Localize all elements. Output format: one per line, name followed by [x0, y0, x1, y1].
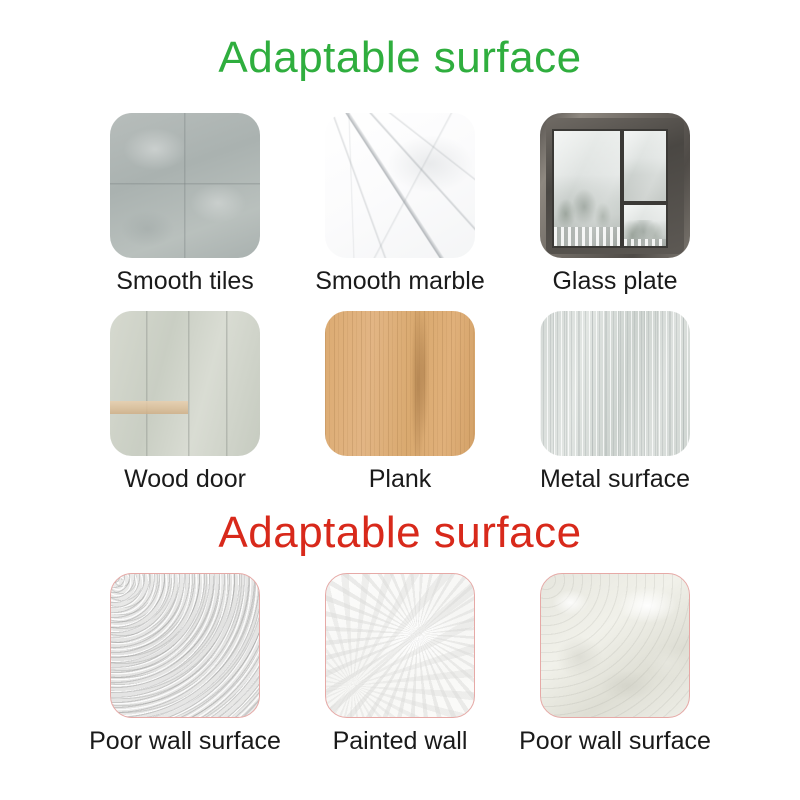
surface-card-smooth-tiles[interactable]: Smooth tiles	[110, 113, 260, 296]
surface-label: Plank	[369, 465, 432, 494]
surface-card-metal-surface[interactable]: Metal surface	[540, 311, 690, 494]
surface-label: Wood door	[124, 465, 246, 494]
metal-surface-thumbnail	[540, 311, 690, 456]
surface-label: Smooth marble	[315, 267, 485, 296]
wood-trim-band	[110, 401, 188, 414]
surface-label: Metal surface	[540, 465, 690, 494]
surface-card-poor-wall-surface-1[interactable]: Poor wall surface	[110, 573, 260, 756]
adaptable-surface-heading: Adaptable surface	[0, 36, 800, 80]
surface-card-poor-wall-surface-2[interactable]: Poor wall surface	[540, 573, 690, 756]
surface-label: Smooth tiles	[116, 267, 254, 296]
poor-wall-surface-thumbnail	[540, 573, 690, 718]
surface-label: Poor wall surface	[89, 727, 281, 756]
adaptable-surface-row-1: Smooth tiles Smooth marble	[0, 113, 800, 296]
non-adaptable-surface-heading: Adaptable surface	[0, 511, 800, 555]
window-pane-right-column	[622, 129, 668, 248]
smooth-tiles-thumbnail	[110, 113, 260, 258]
glass-plate-thumbnail	[540, 113, 690, 258]
surface-label: Glass plate	[552, 267, 677, 296]
infographic-page: Adaptable surface Smooth tiles Smooth ma…	[0, 0, 800, 800]
window-pane-left	[552, 129, 622, 248]
surface-card-glass-plate[interactable]: Glass plate	[540, 113, 690, 296]
non-adaptable-surface-row-1: Poor wall surface Painted wall Poor wall…	[0, 573, 800, 756]
adaptable-surface-row-2: Wood door Plank Metal surface	[0, 311, 800, 494]
window-pane-right-bottom	[622, 203, 668, 248]
glass-reflection	[624, 131, 666, 201]
surface-label: Painted wall	[333, 727, 468, 756]
window-pane-right-top	[622, 129, 668, 203]
surface-card-wood-door[interactable]: Wood door	[110, 311, 260, 494]
glass-reflection	[554, 131, 620, 246]
surface-card-smooth-marble[interactable]: Smooth marble	[325, 113, 475, 296]
glass-reflection	[624, 205, 666, 246]
surface-card-painted-wall[interactable]: Painted wall	[325, 573, 475, 756]
plank-thumbnail	[325, 311, 475, 456]
wood-door-thumbnail	[110, 311, 260, 456]
surface-label: Poor wall surface	[519, 727, 711, 756]
window-panes	[552, 129, 668, 248]
surface-card-plank[interactable]: Plank	[325, 311, 475, 494]
poor-wall-surface-thumbnail	[110, 573, 260, 718]
smooth-marble-thumbnail	[325, 113, 475, 258]
painted-wall-thumbnail	[325, 573, 475, 718]
